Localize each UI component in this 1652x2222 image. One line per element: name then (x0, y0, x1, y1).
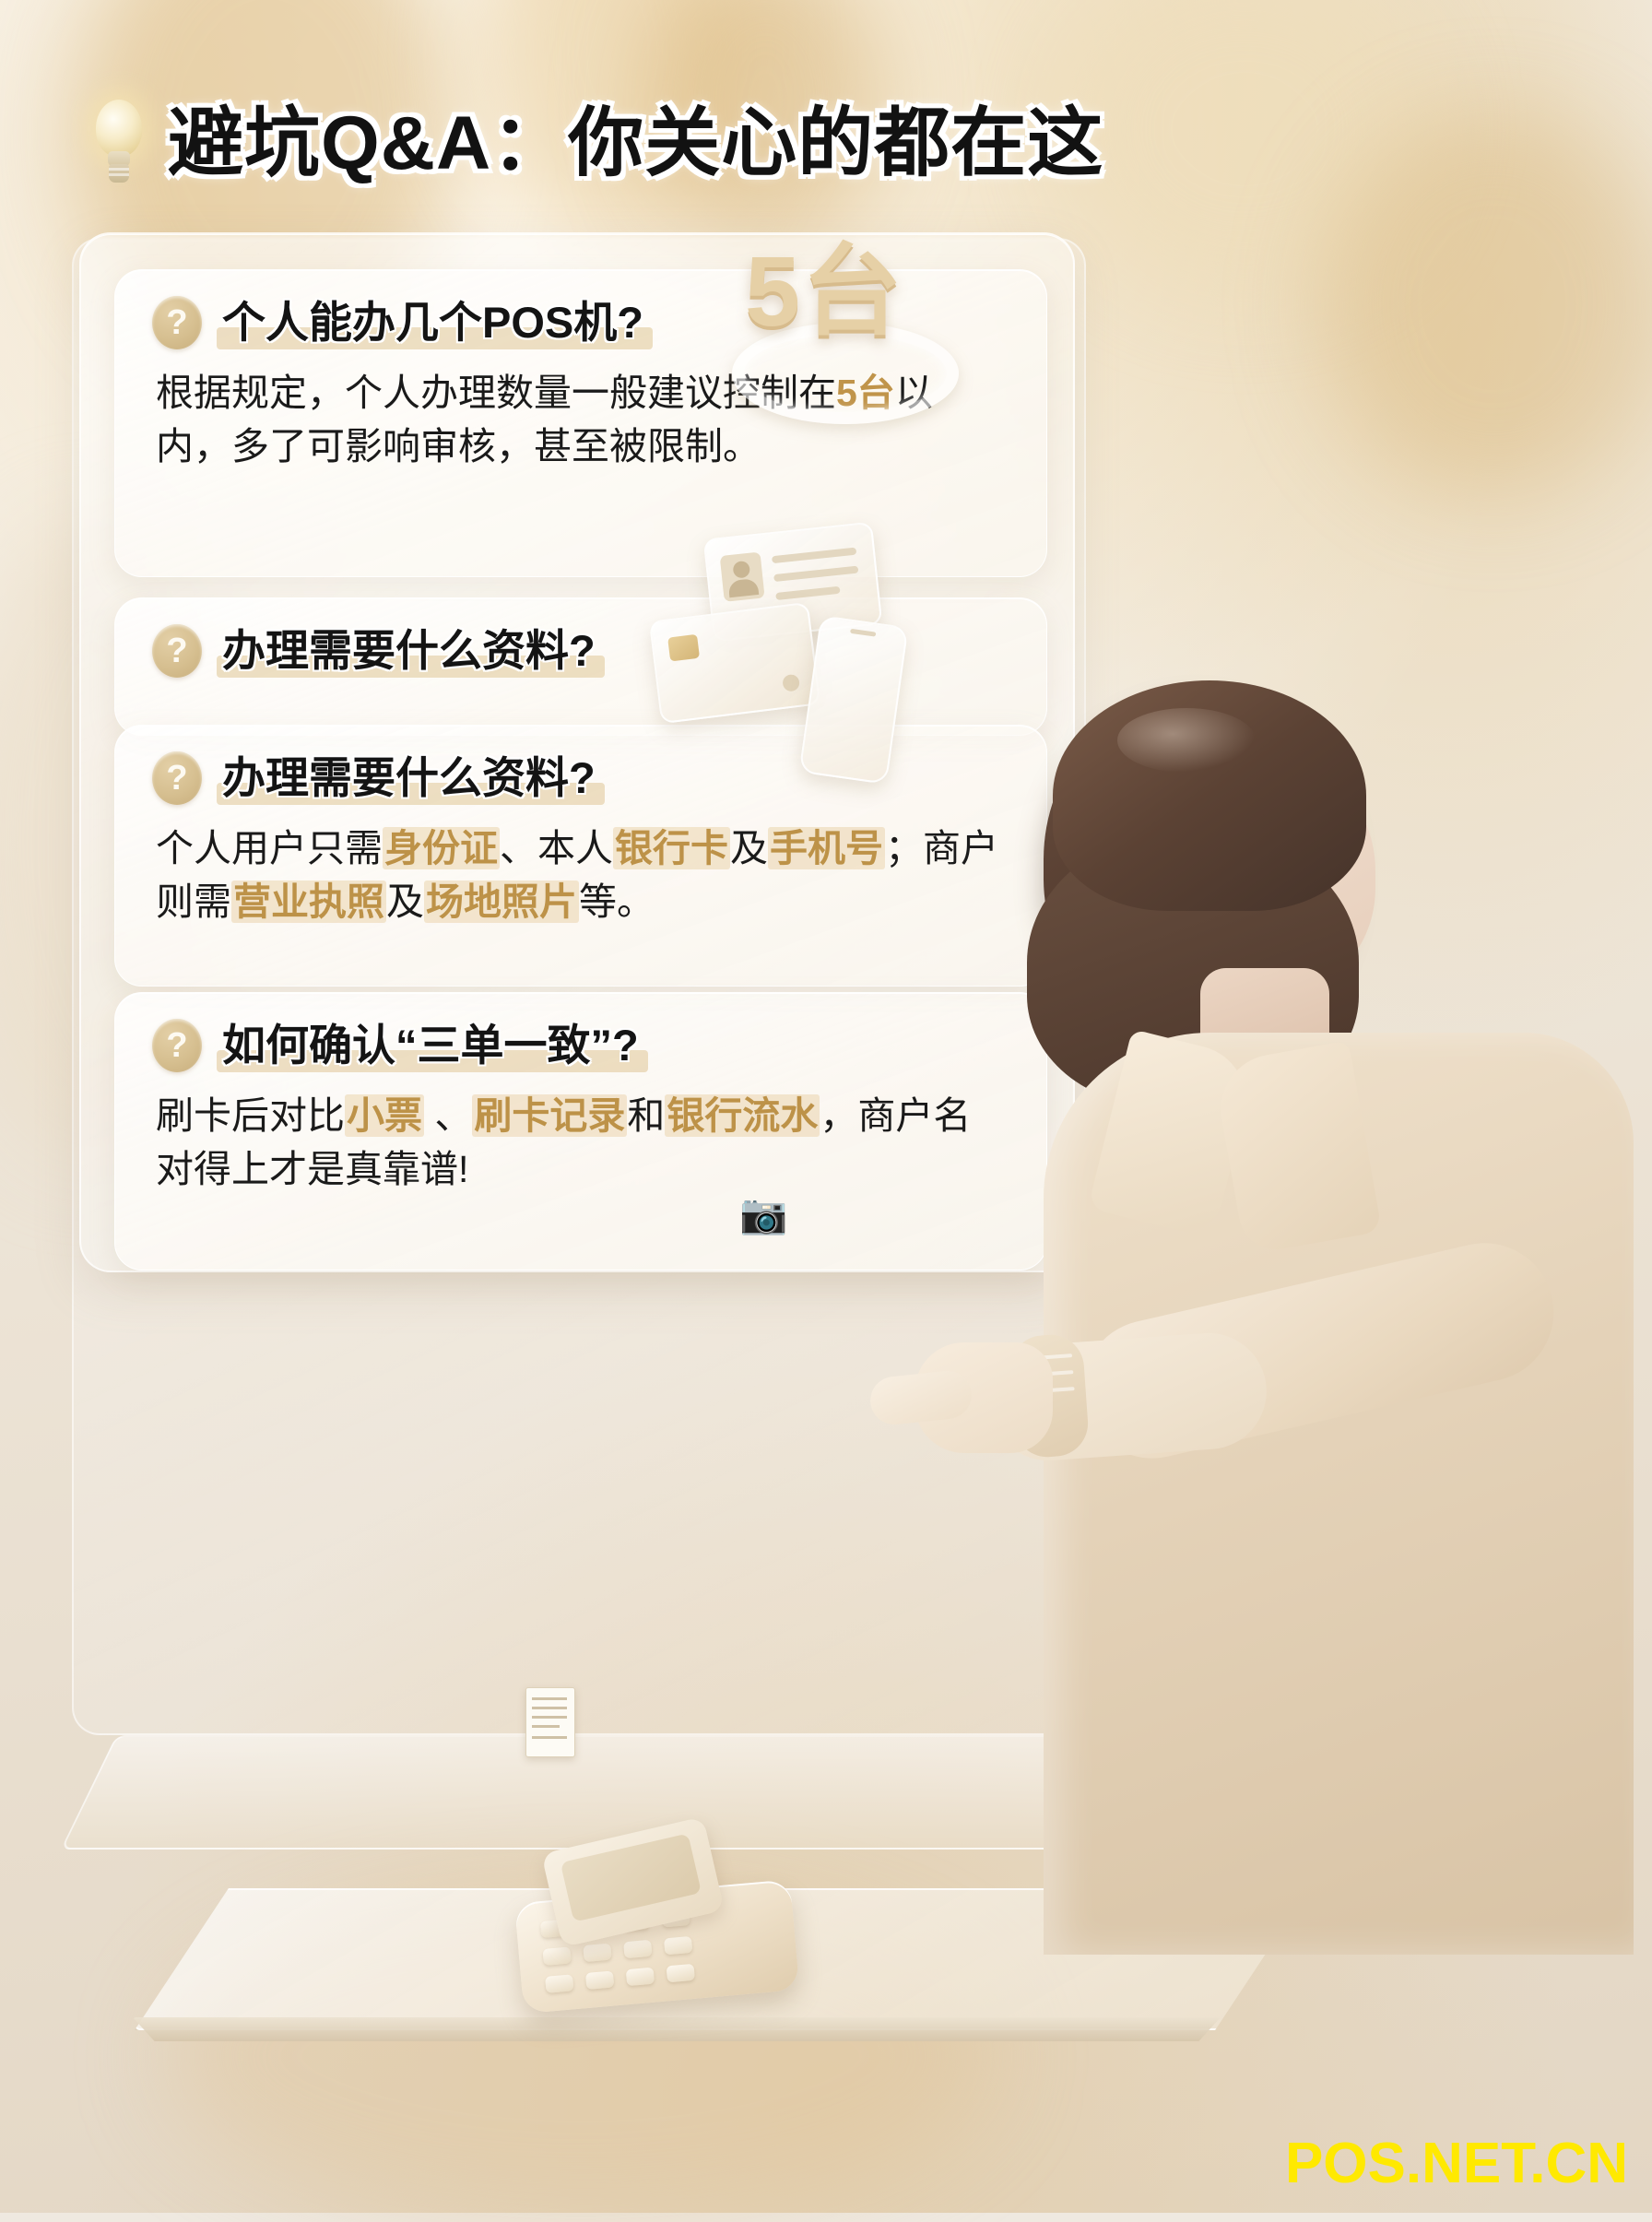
answer-segment: 及 (730, 827, 768, 869)
answer-highlight: 小票 (345, 1094, 424, 1137)
bg-blob (1318, 111, 1652, 498)
question-badge-icon: ? (152, 751, 202, 805)
person-3d-illustration (924, 645, 1652, 2213)
answer-text: 刷卡后对比小票 、刷卡记录和银行流水，商户名对得上才是真靠谱! (115, 1072, 1046, 1196)
question-title: 如何确认“三单一致”? (222, 1021, 639, 1070)
answer-segment: 刷卡后对比 (156, 1094, 345, 1137)
page-header: 避坑Q&A：你关心的都在这 (90, 100, 1103, 188)
answer-highlight: 银行流水 (665, 1094, 820, 1137)
question-title: 办理需要什么资料? (222, 626, 596, 676)
answer-segment: 个人用户只需 (156, 827, 383, 869)
bank-card-icon (649, 602, 820, 724)
answer-highlight: 场地照片 (424, 881, 579, 923)
page-title: 避坑Q&A：你关心的都在这 (168, 106, 1103, 182)
answer-text: 个人用户只需身份证、本人银行卡及手机号；商户则需营业执照及场地照片等。 (115, 805, 1046, 928)
answer-highlight: 银行卡 (613, 827, 730, 869)
qa-card[interactable]: ? 如何确认“三单一致”? 刷卡后对比小票 、刷卡记录和银行流水，商户名对得上才… (114, 992, 1047, 1271)
answer-highlight: 刷卡记录 (472, 1094, 627, 1137)
five-units-3d-decoration: 5台 (728, 242, 959, 417)
watermark: POS.NET.CN (1285, 2135, 1628, 2192)
answer-segment: 等。 (579, 881, 655, 923)
lightbulb-icon (90, 100, 147, 188)
question-badge-icon: ? (152, 624, 202, 678)
answer-highlight: 身份证 (383, 827, 500, 869)
question-row: ? 如何确认“三单一致”? (115, 993, 1046, 1072)
phone-icon (798, 615, 908, 785)
answer-highlight: 手机号 (768, 827, 885, 869)
answer-highlight: 营业执照 (231, 881, 386, 923)
answer-segment: 和 (627, 1094, 665, 1137)
answer-segment: 、 (424, 1094, 472, 1137)
pos-terminal-icon (509, 1813, 828, 2023)
documents-3d-decoration (645, 521, 922, 788)
camera-icon: 📷 (739, 1195, 795, 1239)
five-units-label: 5台 (745, 242, 903, 341)
question-badge-icon: ? (152, 1019, 202, 1072)
receipt-icon (525, 1687, 575, 1757)
answer-segment: 及 (386, 881, 424, 923)
question-badge-icon: ? (152, 296, 202, 349)
answer-segment: 、本人 (500, 827, 613, 869)
question-title: 办理需要什么资料? (222, 753, 596, 803)
question-title: 个人能办几个POS机? (222, 298, 643, 348)
